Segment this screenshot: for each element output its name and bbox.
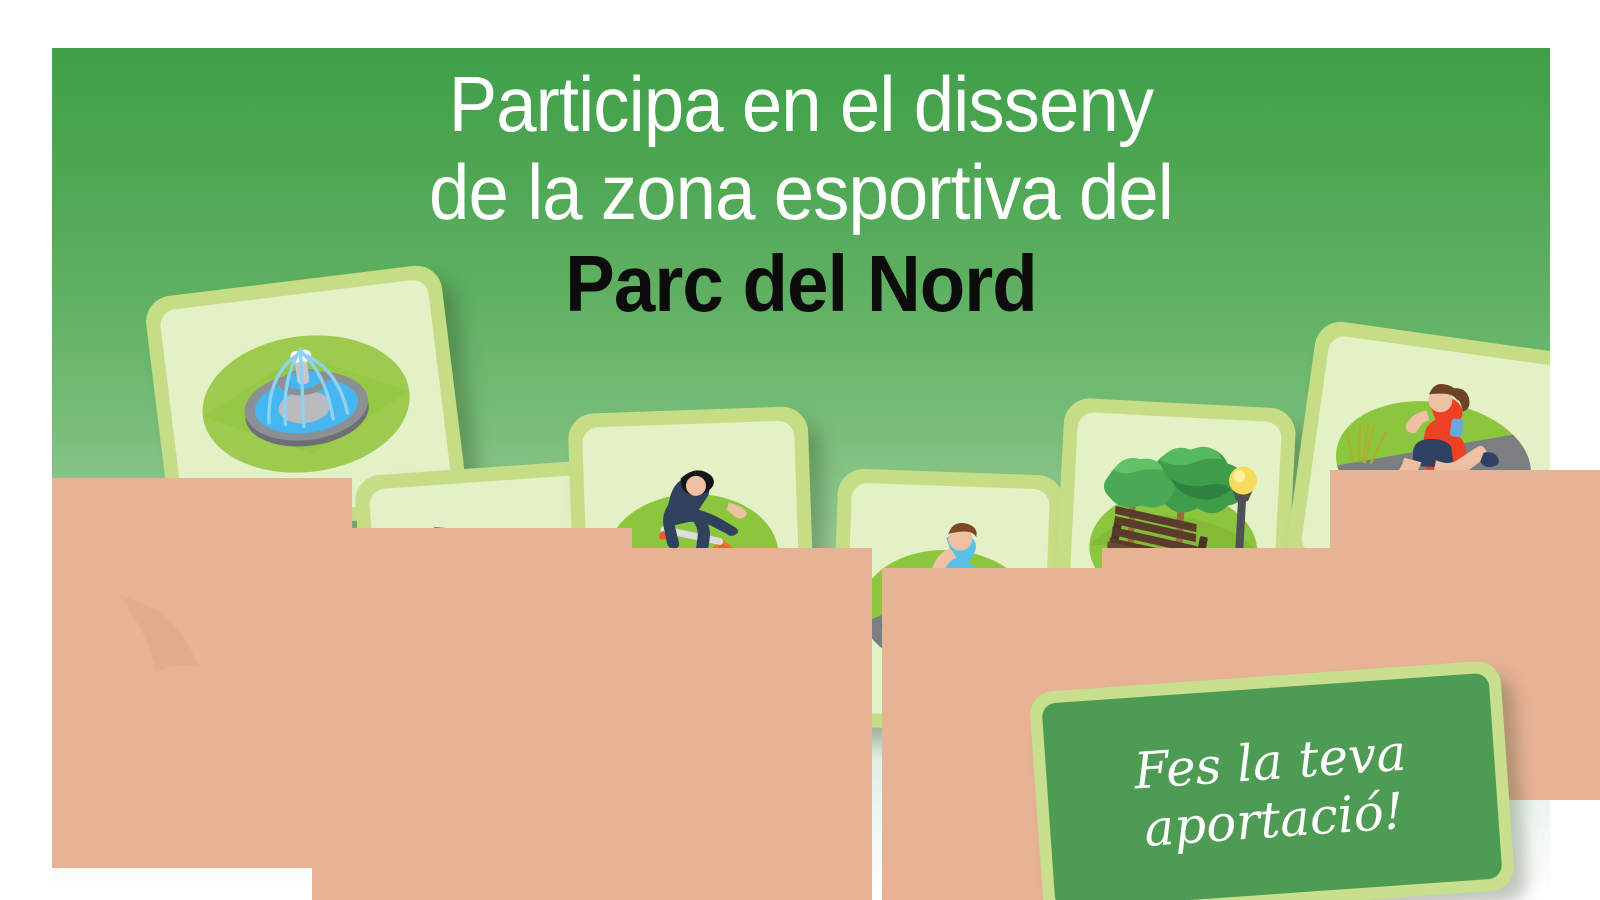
poster-canvas: Participa en el disseny de la zona espor… [0, 0, 1600, 900]
footer-logos: Ajuntament de Sabadell Hi col·labora: [0, 780, 1600, 870]
